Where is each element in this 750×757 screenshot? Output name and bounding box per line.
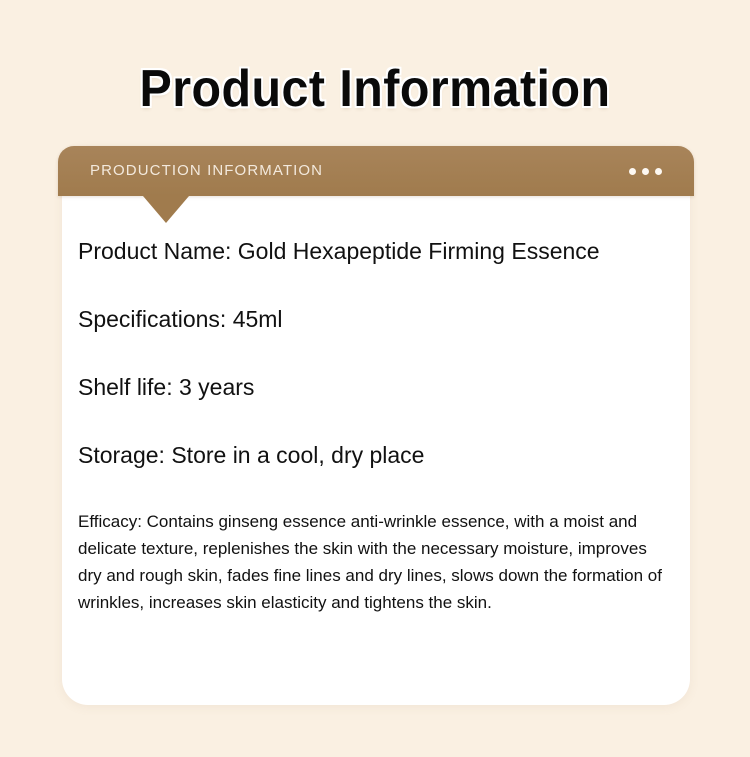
spec-storage: Storage: Store in a cool, dry place <box>78 440 666 470</box>
ellipsis-dot-2 <box>642 168 649 175</box>
spec-specifications: Specifications: 45ml <box>78 304 666 334</box>
card-header-bar: PRODUCTION INFORMATION <box>58 146 694 196</box>
card-body: Product Name: Gold Hexapeptide Firming E… <box>62 196 690 705</box>
card-header-label: PRODUCTION INFORMATION <box>90 146 323 196</box>
ellipsis-icon[interactable] <box>629 146 662 196</box>
ellipsis-dot-3 <box>655 168 662 175</box>
spec-shelf-life: Shelf life: 3 years <box>78 372 666 402</box>
page-title: Product Information <box>26 58 724 120</box>
spec-product-name: Product Name: Gold Hexapeptide Firming E… <box>78 236 666 266</box>
efficacy-description: Efficacy: Contains ginseng essence anti-… <box>78 508 666 616</box>
ellipsis-dot-1 <box>629 168 636 175</box>
